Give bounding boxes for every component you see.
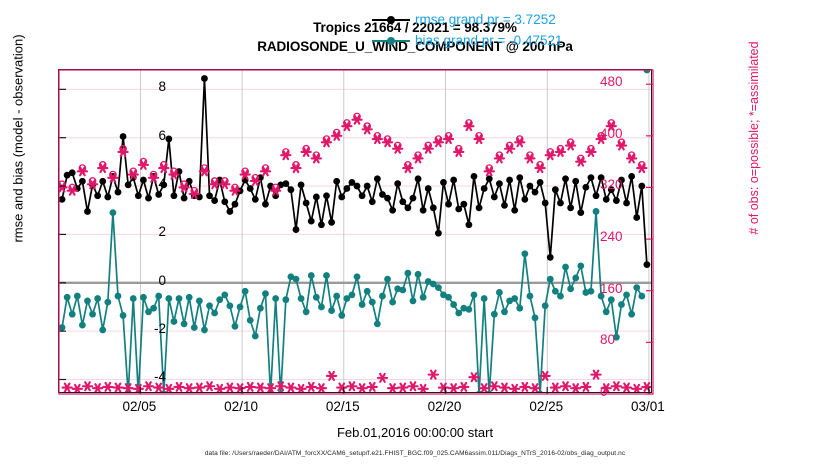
y-tick-right-240: 240	[600, 229, 660, 244]
y-tick-right-320: 320	[600, 177, 660, 192]
chart-title: Tropics 21664 / 22021 = 98.379% RADIOSON…	[0, 18, 830, 56]
y-tick-left--4: -4	[106, 369, 166, 384]
y-tick-left-4: 4	[106, 176, 166, 191]
data-file-path: data file: /Users/raeder/DAI/ATM_forcXX/…	[0, 450, 830, 457]
y-tick-right-0: 0	[600, 384, 660, 399]
x-tick-02-25: 02/25	[501, 399, 591, 414]
y-tick-right-400: 400	[600, 126, 660, 141]
legend-marker-icon	[370, 30, 412, 51]
x-tick-02-20: 02/20	[400, 399, 490, 414]
y-tick-left-8: 8	[106, 79, 166, 94]
y-tick-left-2: 2	[106, 224, 166, 239]
title-line-1: Tropics 21664 / 22021 = 98.379%	[0, 18, 830, 37]
y-tick-left--2: -2	[106, 321, 166, 336]
legend: rmse grand pr = 3.7252bias grand pr = -0…	[370, 9, 562, 51]
x-tick-02-10: 02/10	[196, 399, 286, 414]
y-tick-right-480: 480	[600, 74, 660, 89]
legend-item-bias: bias grand pr = -0.47521	[370, 30, 562, 51]
legend-label: bias grand pr = -0.47521	[415, 30, 562, 51]
legend-marker-icon	[370, 9, 412, 30]
figure-root: Tropics 21664 / 22021 = 98.379% RADIOSON…	[0, 0, 830, 470]
y-axis-left-label: rmse and bias (model - observation)	[11, 0, 26, 289]
x-tick-02-05: 02/05	[94, 399, 184, 414]
y-tick-left-6: 6	[106, 128, 166, 143]
y-tick-left-0: 0	[106, 273, 166, 288]
x-tick-03-01: 03/01	[603, 399, 693, 414]
x-tick-02-15: 02/15	[298, 399, 388, 414]
legend-label: rmse grand pr = 3.7252	[415, 9, 556, 30]
title-line-2: RADIOSONDE_U_WIND_COMPONENT @ 200 hPa	[0, 37, 830, 56]
y-tick-right-80: 80	[600, 332, 660, 347]
x-axis-caption: Feb.01,2016 00:00:00 start	[0, 425, 830, 440]
y-axis-right-label: # of obs: o=possible; *=assimilated	[747, 0, 761, 288]
legend-item-rmse: rmse grand pr = 3.7252	[370, 9, 562, 30]
y-tick-right-160: 160	[600, 281, 660, 296]
